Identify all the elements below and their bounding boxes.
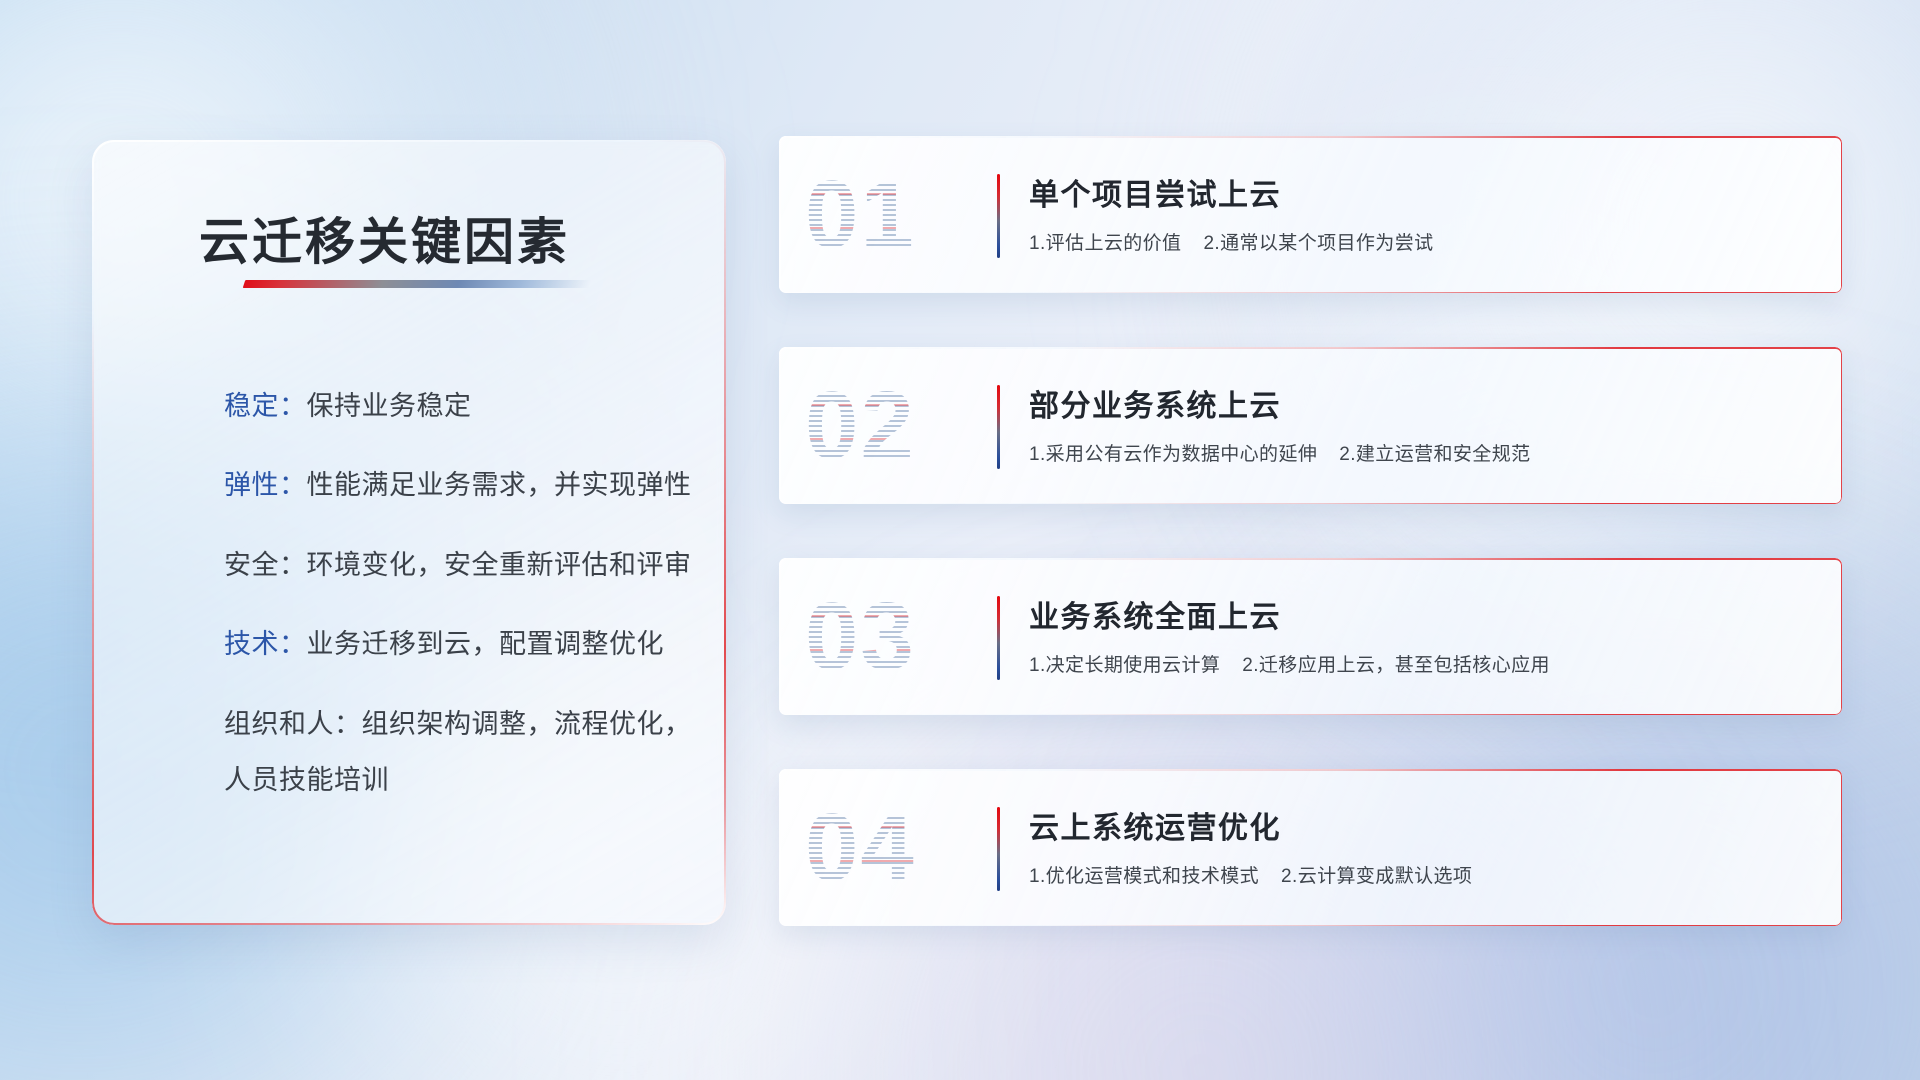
stage-number-03: 03 [805, 581, 981, 693]
key-factor-label-4: 技术： [224, 629, 307, 659]
stage-title-04: 云上系统运营优化 [1029, 803, 1281, 847]
key-factor-item-2: 弹性：性能满足业务需求，并实现弹性 [224, 467, 704, 503]
stage-number-01: 01 [805, 159, 981, 271]
stage-divider-bar-03 [997, 596, 1000, 680]
key-factor-label-1: 稳定： [224, 391, 307, 421]
stage-point-02-2: 2.建立运营和安全规范 [1339, 444, 1530, 465]
panel-title: 云迁移关键因素 [199, 202, 570, 274]
stage-point-04-2: 2.云计算变成默认选项 [1281, 866, 1472, 887]
title-underline-accent [243, 280, 592, 288]
stage-subtitle-04: 1.优化运营模式和技术模式2.云计算变成默认选项 [1029, 861, 1472, 888]
key-factors-panel: 云迁移关键因素 稳定：保持业务稳定 弹性：性能满足业务需求，并实现弹性 安全：环… [92, 140, 726, 925]
stage-point-01-2: 2.通常以某个项目作为尝试 [1203, 233, 1433, 254]
stage-number-02: 02 [805, 370, 981, 482]
stage-card-01[interactable]: 01 01 单个项目尝试上云 1.评估上云的价值2.通常以某个项目作为尝试 [779, 136, 1842, 293]
stage-subtitle-02: 1.采用公有云作为数据中心的延伸2.建立运营和安全规范 [1029, 439, 1531, 466]
key-factor-item-5-continued: 人员技能培训 [224, 762, 704, 798]
stage-divider-bar-01 [997, 174, 1000, 258]
key-factor-text-5-continued: 人员技能培训 [224, 765, 389, 795]
stage-subtitle-01: 1.评估上云的价值2.通常以某个项目作为尝试 [1029, 228, 1434, 255]
stage-title-02: 部分业务系统上云 [1029, 381, 1281, 425]
key-factor-text-2: 性能满足业务需求，并实现弹性 [307, 470, 692, 500]
slide-stage: 云迁移关键因素 稳定：保持业务稳定 弹性：性能满足业务需求，并实现弹性 安全：环… [0, 0, 1920, 1080]
key-factor-label-5: 组织和人： [224, 709, 362, 739]
stage-subtitle-03: 1.决定长期使用云计算2.迁移应用上云，甚至包括核心应用 [1029, 650, 1550, 677]
key-factor-item-5: 组织和人：组织架构调整，流程优化， [224, 706, 704, 742]
stage-number-04: 04 [805, 792, 981, 904]
key-factor-text-5: 组织架构调整，流程优化， [362, 709, 692, 739]
key-factor-label-2: 弹性： [224, 470, 307, 500]
stage-card-02[interactable]: 02 02 部分业务系统上云 1.采用公有云作为数据中心的延伸2.建立运营和安全… [779, 347, 1842, 504]
stage-point-04-1: 1.优化运营模式和技术模式 [1029, 866, 1259, 887]
stage-point-01-1: 1.评估上云的价值 [1029, 233, 1181, 254]
stage-cards-list: 01 01 单个项目尝试上云 1.评估上云的价值2.通常以某个项目作为尝试 02… [779, 136, 1842, 980]
stage-card-03[interactable]: 03 03 业务系统全面上云 1.决定长期使用云计算2.迁移应用上云，甚至包括核… [779, 558, 1842, 715]
key-factor-text-4: 业务迁移到云，配置调整优化 [307, 629, 665, 659]
stage-title-03: 业务系统全面上云 [1029, 592, 1281, 636]
key-factor-text-1: 保持业务稳定 [307, 391, 472, 421]
key-factor-item-1: 稳定：保持业务稳定 [224, 388, 704, 424]
stage-divider-bar-04 [997, 807, 1000, 891]
key-factor-label-3: 安全： [224, 550, 307, 580]
key-factors-list: 稳定：保持业务稳定 弹性：性能满足业务需求，并实现弹性 安全：环境变化，安全重新… [224, 388, 704, 799]
stage-card-04[interactable]: 04 04 云上系统运营优化 1.优化运营模式和技术模式2.云计算变成默认选项 [779, 769, 1842, 926]
stage-divider-bar-02 [997, 385, 1000, 469]
key-factor-text-3: 环境变化，安全重新评估和评审 [307, 550, 692, 580]
stage-title-01: 单个项目尝试上云 [1029, 170, 1281, 214]
key-factor-item-4: 技术：业务迁移到云，配置调整优化 [224, 626, 704, 662]
stage-point-03-2: 2.迁移应用上云，甚至包括核心应用 [1242, 655, 1550, 676]
stage-point-03-1: 1.决定长期使用云计算 [1029, 655, 1220, 676]
stage-point-02-1: 1.采用公有云作为数据中心的延伸 [1029, 444, 1317, 465]
key-factor-item-3: 安全：环境变化，安全重新评估和评审 [224, 547, 704, 583]
